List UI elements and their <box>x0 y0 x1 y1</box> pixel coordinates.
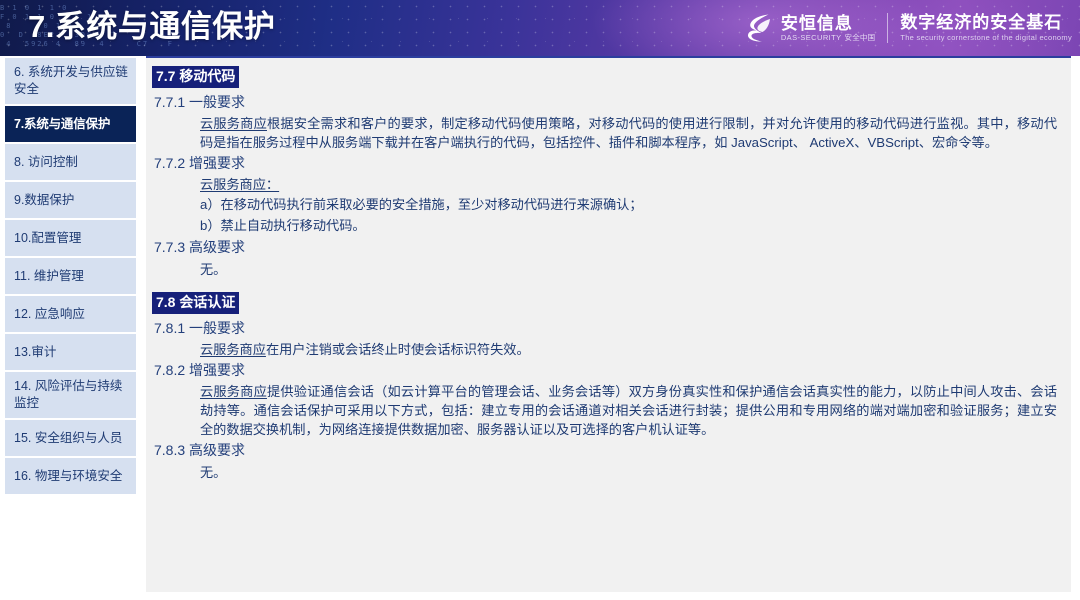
paragraph-underlined-lead: 云服务商应 <box>200 384 267 399</box>
requirement-list-item: a）在移动代码执行前采取必要的安全措施，至少对移动代码进行来源确认； <box>152 194 1061 215</box>
sidebar-item-13[interactable]: 13.审计 <box>5 334 136 370</box>
sidebar-item-6[interactable]: 6. 系统开发与供应链安全 <box>5 58 136 104</box>
sidebar-item-label: 8. 访问控制 <box>14 154 78 171</box>
sidebar-item-16[interactable]: 16. 物理与环境安全 <box>5 458 136 494</box>
brand-name-en-sub: 安全中国 <box>845 33 876 42</box>
requirement-paragraph: 云服务商应提供验证通信会话（如云计算平台的管理会话、业务会话等）双方身份真实性和… <box>152 382 1061 439</box>
sidebar-nav: 6. 系统开发与供应链安全7.系统与通信保护8. 访问控制9.数据保护10.配置… <box>5 58 136 494</box>
paragraph-underlined-lead: 云服务商应： <box>200 177 279 192</box>
subsection-heading: 7.8.2 增强要求 <box>152 359 1061 382</box>
section-block: 7.8 会话认证 <box>152 281 1061 317</box>
paragraph-underlined-lead: 云服务商应 <box>200 116 267 131</box>
brand-slogan-cn: 数字经济的安全基石 <box>900 13 1072 33</box>
brand-slogan-en: The security cornerstone of the digital … <box>900 33 1072 43</box>
sidebar-item-label: 15. 安全组织与人员 <box>14 430 122 447</box>
subsection-heading: 7.7.1 一般要求 <box>152 91 1061 114</box>
sidebar-item-9[interactable]: 9.数据保护 <box>5 182 136 218</box>
sidebar-item-label: 14. 风险评估与持续监控 <box>14 378 129 412</box>
sidebar-item-7[interactable]: 7.系统与通信保护 <box>5 106 136 142</box>
sidebar-item-label: 11. 维护管理 <box>14 268 84 285</box>
subsection-heading: 7.7.2 增强要求 <box>152 152 1061 175</box>
paragraph-body: 根据安全需求和客户的要求，制定移动代码使用策略，对移动代码的使用进行限制，并对允… <box>200 116 1057 150</box>
section-heading: 7.7 移动代码 <box>152 66 239 88</box>
section-block: 7.7 移动代码 <box>152 66 1061 91</box>
sidebar-item-11[interactable]: 11. 维护管理 <box>5 258 136 294</box>
section-heading: 7.8 会话认证 <box>152 292 239 314</box>
content-panel: 7.7 移动代码7.7.1 一般要求云服务商应根据安全需求和客户的要求，制定移动… <box>146 56 1071 592</box>
sidebar-item-10[interactable]: 10.配置管理 <box>5 220 136 256</box>
subsection-heading: 7.8.1 一般要求 <box>152 317 1061 340</box>
sidebar-item-label: 13.审计 <box>14 344 56 361</box>
brand-slogan-block: 数字经济的安全基石 The security cornerstone of th… <box>900 13 1072 43</box>
requirement-none-value: 无。 <box>152 259 1061 281</box>
sidebar-item-8[interactable]: 8. 访问控制 <box>5 144 136 180</box>
requirement-paragraph: 云服务商应： <box>152 175 1061 194</box>
sidebar-item-label: 10.配置管理 <box>14 230 81 247</box>
sidebar-item-label: 7.系统与通信保护 <box>14 116 110 133</box>
sidebar-item-label: 12. 应急响应 <box>14 306 85 323</box>
brand-logo: 安恒信息 DAS-SECURITY安全中国 数字经济的安全基石 The secu… <box>746 8 1072 48</box>
paragraph-body: 在用户注销或会话终止时使会话标识符失效。 <box>266 342 530 357</box>
paragraph-body: 提供验证通信会话（如云计算平台的管理会话、业务会话等）双方身份真实性和保护通信会… <box>200 384 1057 437</box>
requirement-paragraph: 云服务商应在用户注销或会话终止时使会话标识符失效。 <box>152 340 1061 359</box>
sidebar-item-label: 9.数据保护 <box>14 192 74 209</box>
page-header: B 1 0 1 1 0 F 0 1 1 0 1 0 1 8 0 1 1 0 D … <box>0 0 1080 56</box>
sidebar-item-label: 16. 物理与环境安全 <box>14 468 122 485</box>
requirement-list-item: b）禁止自动执行移动代码。 <box>152 215 1061 236</box>
sidebar-item-label: 6. 系统开发与供应链安全 <box>14 64 129 98</box>
brand-name-en-main: DAS-SECURITY <box>781 33 842 42</box>
sidebar-item-15[interactable]: 15. 安全组织与人员 <box>5 420 136 456</box>
das-security-swirl-icon <box>746 12 772 44</box>
page-body: 6. 系统开发与供应链安全7.系统与通信保护8. 访问控制9.数据保护10.配置… <box>0 56 1080 600</box>
paragraph-underlined-lead: 云服务商应 <box>200 342 266 357</box>
page-title: 7.系统与通信保护 <box>28 1 275 46</box>
brand-name-en: DAS-SECURITY安全中国 <box>781 33 875 43</box>
subsection-heading: 7.8.3 高级要求 <box>152 439 1061 462</box>
sidebar-item-14[interactable]: 14. 风险评估与持续监控 <box>5 372 136 418</box>
requirement-none-value: 无。 <box>152 462 1061 484</box>
brand-name-block: 安恒信息 DAS-SECURITY安全中国 <box>781 14 875 43</box>
requirement-paragraph: 云服务商应根据安全需求和客户的要求，制定移动代码使用策略，对移动代码的使用进行限… <box>152 114 1061 152</box>
logo-divider <box>887 13 888 43</box>
subsection-heading: 7.7.3 高级要求 <box>152 236 1061 259</box>
sidebar-item-12[interactable]: 12. 应急响应 <box>5 296 136 332</box>
brand-name-cn: 安恒信息 <box>781 14 875 33</box>
